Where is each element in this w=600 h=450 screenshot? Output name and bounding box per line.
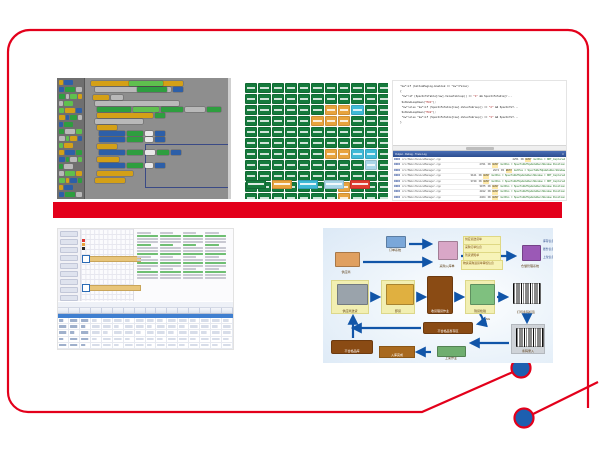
- code-block[interactable]: [171, 150, 181, 155]
- seat-cell[interactable]: [258, 138, 270, 148]
- flow-node-putaway[interactable]: 上架作业: [433, 344, 469, 360]
- palette-block[interactable]: [59, 115, 82, 120]
- scheduler-data-table[interactable]: [58, 302, 233, 349]
- seat-cell[interactable]: [272, 105, 284, 115]
- table-cell[interactable]: [58, 349, 69, 350]
- table-cell[interactable]: [146, 330, 157, 335]
- table-header-cell[interactable]: [222, 308, 233, 313]
- scheduler-timeline-grid[interactable]: [81, 229, 134, 301]
- palette-block[interactable]: [59, 192, 82, 197]
- table-cell[interactable]: [91, 324, 102, 329]
- table-cell[interactable]: [91, 337, 102, 342]
- table-header-cell[interactable]: [189, 308, 200, 313]
- scheduler-control-rail[interactable]: [58, 229, 81, 301]
- table-cell[interactable]: [178, 343, 189, 348]
- seat-cell[interactable]: [338, 83, 350, 93]
- table-cell[interactable]: [102, 343, 113, 348]
- code-block[interactable]: [99, 163, 125, 168]
- seat-cell[interactable]: [351, 127, 363, 137]
- code-block[interactable]: [137, 87, 167, 92]
- seat-cell[interactable]: [285, 138, 297, 148]
- flow-node-inspect[interactable]: 到货检验: [465, 280, 495, 314]
- seat-cell[interactable]: [258, 116, 270, 126]
- log-row[interactable]: INFOsrc/Main/DeviceManager.cpp4464INBUSY…: [394, 196, 565, 201]
- seat-cell[interactable]: [258, 83, 270, 93]
- seat-status-grid-screenshot[interactable]: [243, 80, 388, 199]
- seat-cell[interactable]: [365, 127, 377, 137]
- code-block[interactable]: [133, 107, 159, 112]
- table-cell[interactable]: [146, 343, 157, 348]
- table-cell[interactable]: [189, 330, 200, 335]
- gantt-node[interactable]: [82, 255, 90, 263]
- table-cell[interactable]: [124, 337, 135, 342]
- seat-cell[interactable]: [298, 127, 310, 137]
- table-cell[interactable]: [156, 337, 167, 342]
- table-cell[interactable]: [222, 349, 233, 350]
- code-block[interactable]: [161, 107, 183, 112]
- seat-cell[interactable]: [365, 83, 377, 93]
- seat-cell[interactable]: [245, 83, 257, 93]
- seat-cell[interactable]: [298, 116, 310, 126]
- blocks-toolbox[interactable]: [57, 78, 85, 199]
- table-cell[interactable]: [91, 318, 102, 323]
- seat-cell[interactable]: [351, 105, 363, 115]
- seat-cell[interactable]: [351, 149, 363, 159]
- table-cell[interactable]: [113, 337, 124, 342]
- table-header-cell[interactable]: [211, 308, 222, 313]
- table-cell[interactable]: [222, 337, 233, 342]
- flow-node-erp-entry[interactable]: 采购入库单: [435, 238, 459, 268]
- code-block[interactable]: [97, 144, 117, 149]
- seat-cell[interactable]: [351, 83, 363, 93]
- seat-cell[interactable]: [298, 138, 310, 148]
- code-block[interactable]: [97, 157, 119, 162]
- seat-cell[interactable]: [311, 83, 323, 93]
- table-cell[interactable]: [146, 349, 157, 350]
- code-block[interactable]: [95, 101, 179, 106]
- detail-card-column[interactable]: [204, 231, 227, 280]
- table-cell[interactable]: [211, 337, 222, 342]
- code-block[interactable]: [97, 113, 153, 118]
- seat-cell[interactable]: [338, 149, 350, 159]
- table-cell[interactable]: [167, 337, 178, 342]
- table-cell[interactable]: [113, 318, 124, 323]
- table-header-cell[interactable]: [167, 308, 178, 313]
- table-cell[interactable]: [156, 349, 167, 350]
- code-block[interactable]: [127, 163, 143, 168]
- seat-cell[interactable]: [245, 127, 257, 137]
- scheduler-control[interactable]: [60, 287, 78, 293]
- table-header-cell[interactable]: [200, 308, 211, 313]
- code-block[interactable]: [97, 171, 133, 176]
- seat-cell[interactable]: [365, 160, 377, 170]
- flow-node-inbound-done[interactable]: 入库完成: [379, 346, 415, 358]
- seat-cell[interactable]: [272, 160, 284, 170]
- seat-cell[interactable]: [365, 138, 377, 148]
- code-block[interactable]: [99, 131, 125, 136]
- seat-cell[interactable]: [272, 83, 284, 93]
- gantt-bar[interactable]: [87, 285, 141, 291]
- seat-cell[interactable]: [378, 83, 388, 93]
- palette-block[interactable]: [59, 122, 82, 127]
- table-header-cell[interactable]: [113, 308, 124, 313]
- scheduler-control[interactable]: [60, 247, 78, 253]
- table-cell[interactable]: [102, 330, 113, 335]
- code-block[interactable]: [93, 95, 109, 100]
- flow-node-note-7[interactable]: 上架信息: [543, 256, 553, 261]
- palette-block[interactable]: [59, 129, 82, 134]
- table-cell[interactable]: [189, 349, 200, 350]
- seat-cell[interactable]: [325, 160, 337, 170]
- table-cell[interactable]: [58, 337, 69, 342]
- code-block[interactable]: [145, 163, 153, 168]
- palette-block[interactable]: [59, 108, 82, 113]
- table-cell[interactable]: [211, 349, 222, 350]
- seat-cell[interactable]: [272, 116, 284, 126]
- table-cell[interactable]: [80, 324, 91, 329]
- table-header-cell[interactable]: [58, 308, 69, 313]
- table-cell[interactable]: [124, 343, 135, 348]
- table-cell[interactable]: [189, 324, 200, 329]
- seat-cell[interactable]: [351, 138, 363, 148]
- table-header-cell[interactable]: [135, 308, 146, 313]
- code-block[interactable]: [155, 137, 165, 142]
- table-cell[interactable]: [69, 330, 80, 335]
- table-header-cell[interactable]: [124, 308, 135, 313]
- seat-cell[interactable]: [338, 116, 350, 126]
- seat-cell[interactable]: [378, 160, 388, 170]
- table-header-cell[interactable]: [156, 308, 167, 313]
- seat-cell[interactable]: [245, 116, 257, 126]
- table-cell[interactable]: [102, 324, 113, 329]
- scheduler-control[interactable]: [60, 231, 78, 237]
- seat-cell[interactable]: [258, 94, 270, 104]
- table-cell[interactable]: [146, 324, 157, 329]
- table-cell[interactable]: [178, 349, 189, 350]
- flow-node-delivery[interactable]: 供应商送货: [331, 280, 369, 314]
- table-cell[interactable]: [69, 337, 80, 342]
- table-cell[interactable]: [124, 318, 135, 323]
- seat-cell[interactable]: [258, 193, 270, 199]
- blocks-editor-screenshot[interactable]: [57, 78, 231, 199]
- table-header-cell[interactable]: [178, 308, 189, 313]
- seat-cell[interactable]: [351, 116, 363, 126]
- seat-cell[interactable]: [311, 138, 323, 148]
- log-output-window[interactable]: Output - Debug - Trace Log ✕ INFOsrc/Mai…: [393, 150, 566, 200]
- seat-cell[interactable]: [365, 105, 377, 115]
- seat-cell[interactable]: [378, 116, 388, 126]
- table-cell[interactable]: [135, 330, 146, 335]
- table-cell[interactable]: [124, 330, 135, 335]
- seat-cell[interactable]: [285, 105, 297, 115]
- table-cell[interactable]: [135, 343, 146, 348]
- code-block[interactable]: [129, 81, 163, 86]
- table-cell[interactable]: [80, 343, 91, 348]
- table-cell[interactable]: [156, 318, 167, 323]
- table-cell[interactable]: [200, 337, 211, 342]
- seat-cell[interactable]: [325, 94, 337, 104]
- table-cell[interactable]: [80, 349, 91, 350]
- seat-cell[interactable]: [378, 182, 388, 192]
- seat-cell[interactable]: [351, 94, 363, 104]
- table-cell[interactable]: [156, 324, 167, 329]
- blocks-canvas[interactable]: [85, 78, 231, 199]
- flow-node-note-5[interactable]: 库存信息: [543, 240, 553, 245]
- code-block[interactable]: [157, 150, 169, 155]
- table-cell[interactable]: [58, 343, 69, 348]
- table-cell[interactable]: [167, 324, 178, 329]
- table-cell[interactable]: [222, 330, 233, 335]
- log-row-list[interactable]: INFOsrc/Main/DeviceManager.cpp2251INBUSY…: [393, 157, 566, 201]
- seat-cell[interactable]: [351, 193, 363, 199]
- table-cell[interactable]: [156, 343, 167, 348]
- seat-cell[interactable]: [378, 171, 388, 181]
- table-cell[interactable]: [167, 349, 178, 350]
- table-cell[interactable]: [178, 318, 189, 323]
- seat-cell[interactable]: [325, 116, 337, 126]
- table-cell[interactable]: [80, 330, 91, 335]
- table-cell[interactable]: [124, 349, 135, 350]
- table-cell[interactable]: [58, 318, 69, 323]
- table-body[interactable]: [58, 318, 233, 350]
- table-cell[interactable]: [211, 324, 222, 329]
- seat-cell[interactable]: [325, 138, 337, 148]
- seat-cell[interactable]: [338, 127, 350, 137]
- seat-cell[interactable]: [338, 138, 350, 148]
- seat-cell[interactable]: [325, 83, 337, 93]
- seat-cell[interactable]: [272, 127, 284, 137]
- seat-cell[interactable]: [311, 127, 323, 137]
- seat-cell[interactable]: [245, 160, 257, 170]
- table-cell[interactable]: [189, 343, 200, 348]
- table-header-cell[interactable]: [69, 308, 80, 313]
- table-header-cell[interactable]: [102, 308, 113, 313]
- table-cell[interactable]: [113, 349, 124, 350]
- seat-cell[interactable]: [311, 116, 323, 126]
- seat-cell[interactable]: [258, 105, 270, 115]
- table-cell[interactable]: [211, 343, 222, 348]
- seat-cell[interactable]: [365, 149, 377, 159]
- seat-cell[interactable]: [365, 193, 377, 199]
- palette-block[interactable]: [59, 185, 82, 190]
- table-cell[interactable]: [69, 318, 80, 323]
- scheduler-control[interactable]: [60, 295, 78, 301]
- detail-card-column[interactable]: [136, 231, 159, 280]
- flow-node-note-6[interactable]: 账务信息: [543, 248, 553, 253]
- code-block[interactable]: [127, 131, 143, 136]
- scheduler-control[interactable]: [60, 271, 78, 277]
- flow-node-note-4[interactable]: 物资采购退货单审核信息: [461, 260, 503, 270]
- palette-block[interactable]: [59, 101, 82, 106]
- table-cell[interactable]: [211, 330, 222, 335]
- table-cell[interactable]: [80, 337, 91, 342]
- seat-cell[interactable]: [311, 149, 323, 159]
- seat-cell[interactable]: [245, 105, 257, 115]
- code-block[interactable]: [97, 125, 117, 130]
- seat-cell[interactable]: [325, 105, 337, 115]
- seat-cell[interactable]: [378, 193, 388, 199]
- scheduler-upper-area[interactable]: [58, 229, 233, 301]
- seat-cell[interactable]: [338, 160, 350, 170]
- code-block[interactable]: [185, 107, 205, 112]
- palette-block[interactable]: [59, 150, 82, 155]
- table-cell[interactable]: [113, 330, 124, 335]
- palette-block[interactable]: [59, 80, 82, 85]
- table-cell[interactable]: [80, 318, 91, 323]
- code-block[interactable]: [173, 87, 183, 92]
- table-cell[interactable]: [167, 343, 178, 348]
- table-cell[interactable]: [178, 337, 189, 342]
- table-cell[interactable]: [113, 324, 124, 329]
- seat-cell[interactable]: [285, 160, 297, 170]
- table-cell[interactable]: [113, 343, 124, 348]
- seat-cell[interactable]: [258, 127, 270, 137]
- flow-node-ng-label[interactable]: NG: [483, 316, 493, 321]
- table-cell[interactable]: [58, 324, 69, 329]
- palette-block[interactable]: [59, 164, 82, 169]
- code-editor-screenshot[interactable]: "kw">if (bottomPaging.Enabled == "kw">fa…: [392, 80, 567, 201]
- blocks-vertical-scrollbar[interactable]: [228, 78, 231, 199]
- seat-cell[interactable]: [351, 160, 363, 170]
- gantt-node[interactable]: [82, 284, 90, 292]
- table-header-cell[interactable]: [80, 308, 91, 313]
- table-cell[interactable]: [200, 324, 211, 329]
- seat-cell[interactable]: [311, 105, 323, 115]
- flow-node-reject-zone[interactable]: 不合格品暂存区: [423, 322, 473, 334]
- seat-cell[interactable]: [338, 193, 350, 199]
- seat-cell[interactable]: [272, 193, 284, 199]
- seat-cell[interactable]: [272, 149, 284, 159]
- seat-cell[interactable]: [325, 193, 337, 199]
- code-block[interactable]: [97, 107, 131, 112]
- scheduler-detail-cards[interactable]: [134, 229, 233, 305]
- seat-cell[interactable]: [272, 94, 284, 104]
- flow-node-scan-in[interactable]: 条码录入: [511, 324, 545, 354]
- seat-cell[interactable]: [311, 193, 323, 199]
- seat-cell[interactable]: [311, 94, 323, 104]
- code-block[interactable]: [145, 131, 153, 136]
- table-cell[interactable]: [91, 349, 102, 350]
- code-block[interactable]: [95, 119, 143, 124]
- code-block[interactable]: [99, 137, 125, 142]
- code-block[interactable]: [111, 95, 123, 100]
- seat-cell[interactable]: [338, 94, 350, 104]
- seat-cell[interactable]: [365, 94, 377, 104]
- seat-cell[interactable]: [325, 127, 337, 137]
- code-text-area[interactable]: "kw">if (bottomPaging.Enabled == "kw">fa…: [393, 81, 566, 145]
- table-cell[interactable]: [91, 330, 102, 335]
- table-row[interactable]: [58, 349, 233, 350]
- table-cell[interactable]: [156, 330, 167, 335]
- seat-cell[interactable]: [298, 193, 310, 199]
- seat-cell[interactable]: [285, 83, 297, 93]
- flow-node-supplier[interactable]: 供应商: [331, 250, 361, 274]
- seat-cell[interactable]: [378, 138, 388, 148]
- code-block[interactable]: [155, 163, 165, 168]
- code-block[interactable]: [127, 150, 143, 155]
- code-block[interactable]: [145, 150, 155, 155]
- palette-block[interactable]: [59, 157, 82, 162]
- table-cell[interactable]: [200, 318, 211, 323]
- table-cell[interactable]: [222, 324, 233, 329]
- table-cell[interactable]: [124, 324, 135, 329]
- seat-cell[interactable]: [258, 160, 270, 170]
- table-cell[interactable]: [200, 330, 211, 335]
- detail-card-column[interactable]: [159, 231, 182, 280]
- seat-cell[interactable]: [285, 94, 297, 104]
- scheduler-screenshot[interactable]: [57, 228, 234, 350]
- seat-cell[interactable]: [245, 94, 257, 104]
- table-cell[interactable]: [189, 337, 200, 342]
- seat-cell[interactable]: [298, 83, 310, 93]
- seat-cell[interactable]: [258, 149, 270, 159]
- table-cell[interactable]: [135, 318, 146, 323]
- table-cell[interactable]: [167, 330, 178, 335]
- scheduler-control[interactable]: [60, 239, 78, 245]
- table-cell[interactable]: [146, 318, 157, 323]
- table-cell[interactable]: [222, 343, 233, 348]
- table-cell[interactable]: [200, 343, 211, 348]
- seat-cell[interactable]: [245, 193, 257, 199]
- warehouse-flow-diagram-screenshot[interactable]: 供应商订单系统采购入库单供应商送货单采购订单信息到货通知单物资采购退货单审核信息…: [323, 228, 553, 363]
- flow-node-reject-stock[interactable]: 不合格品库: [331, 340, 373, 354]
- code-block[interactable]: [155, 131, 165, 136]
- code-block[interactable]: [99, 150, 125, 155]
- table-cell[interactable]: [178, 324, 189, 329]
- table-cell[interactable]: [146, 337, 157, 342]
- code-block[interactable]: [127, 137, 143, 142]
- palette-block[interactable]: [59, 136, 82, 141]
- seat-cell[interactable]: [285, 127, 297, 137]
- seat-cell[interactable]: [298, 160, 310, 170]
- seat-cell[interactable]: [272, 138, 284, 148]
- palette-block[interactable]: [59, 171, 82, 176]
- seat-cell[interactable]: [378, 127, 388, 137]
- seat-cell[interactable]: [378, 105, 388, 115]
- scheduler-control[interactable]: [60, 279, 78, 285]
- palette-block[interactable]: [59, 94, 82, 99]
- seat-cell[interactable]: [285, 193, 297, 199]
- flow-node-unload[interactable]: 卸货: [381, 280, 415, 314]
- table-cell[interactable]: [102, 337, 113, 342]
- table-cell[interactable]: [189, 318, 200, 323]
- table-cell[interactable]: [135, 324, 146, 329]
- seat-cell[interactable]: [298, 94, 310, 104]
- table-cell[interactable]: [91, 343, 102, 348]
- table-cell[interactable]: [135, 349, 146, 350]
- close-icon[interactable]: ✕: [562, 153, 564, 156]
- seat-cell[interactable]: [378, 94, 388, 104]
- table-cell[interactable]: [211, 318, 222, 323]
- table-cell[interactable]: [222, 318, 233, 323]
- flow-node-receiving[interactable]: 收货理货作业: [427, 276, 453, 314]
- table-cell[interactable]: [69, 349, 80, 350]
- table-header-cell[interactable]: [91, 308, 102, 313]
- table-cell[interactable]: [178, 330, 189, 335]
- seat-cell[interactable]: [298, 105, 310, 115]
- seat-cell[interactable]: [311, 160, 323, 170]
- seat-cell[interactable]: [285, 116, 297, 126]
- code-block[interactable]: [145, 137, 153, 142]
- code-block[interactable]: [95, 178, 125, 183]
- scheduler-control[interactable]: [60, 255, 78, 261]
- seat-cell[interactable]: [245, 138, 257, 148]
- code-block[interactable]: [207, 107, 221, 112]
- flow-node-barcode-print[interactable]: 打印条码标签: [509, 280, 543, 314]
- flow-node-order-system[interactable]: 订单系统: [383, 234, 407, 252]
- table-cell[interactable]: [102, 349, 113, 350]
- flow-node-wms-server[interactable]: 仓储管理系统: [519, 242, 541, 268]
